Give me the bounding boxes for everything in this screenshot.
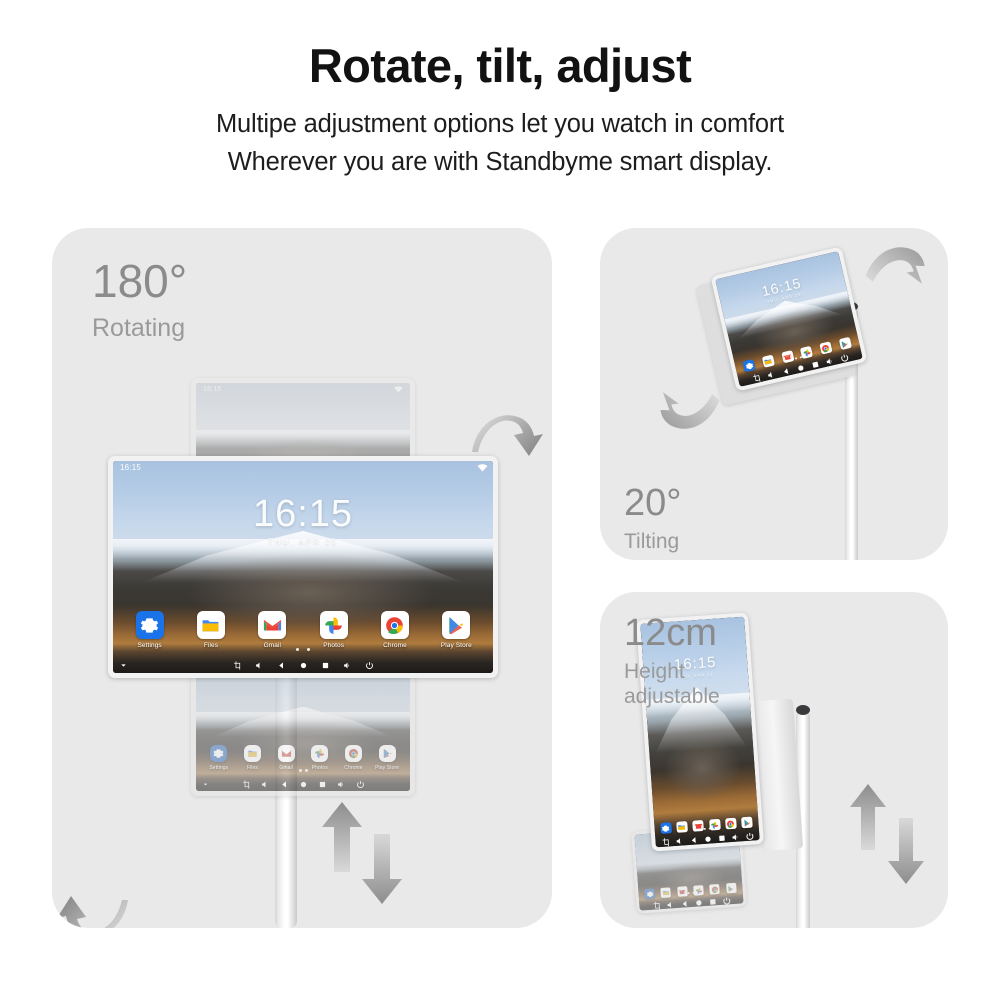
metric-rotating-value: 180° xyxy=(92,258,187,304)
metric-height-caption: Height adjustable xyxy=(624,660,720,710)
recents-icon xyxy=(318,780,327,789)
volume-up-icon[interactable] xyxy=(343,661,352,670)
home-icon[interactable] xyxy=(795,363,806,374)
tilt-down-arrow xyxy=(658,380,720,436)
back-icon xyxy=(280,780,289,789)
tablet-screen-tilted[interactable]: 16:15 THU, APR 25 xyxy=(715,251,863,387)
navigation-bar xyxy=(113,657,493,673)
product-feature-page: Rotate, tilt, adjust Multipe adjustment … xyxy=(0,0,1000,1000)
volume-down-icon xyxy=(261,780,270,789)
clock-date: THU, APR 25 xyxy=(113,537,493,546)
screenshot-crop-icon[interactable] xyxy=(751,373,762,384)
power-icon xyxy=(356,780,365,789)
page-dot xyxy=(307,648,310,651)
volume-up-icon[interactable] xyxy=(731,832,741,842)
files-folder-icon xyxy=(197,611,225,639)
power-icon[interactable] xyxy=(839,353,850,364)
height-updown-arrows xyxy=(848,782,928,886)
chevron-down-icon[interactable] xyxy=(119,661,128,670)
tablet-ghost-lower: Settings Files Gmail xyxy=(191,660,415,796)
recents-icon xyxy=(708,897,718,907)
panel-tilting: 20° Tilting 16:15 THU, APR 25 xyxy=(600,228,948,560)
recents-icon[interactable] xyxy=(810,359,821,370)
home-icon xyxy=(299,780,308,789)
status-bar-time: 16:15 xyxy=(120,463,141,472)
screenshot-crop-icon[interactable] xyxy=(233,661,242,670)
chrome-icon xyxy=(381,611,409,639)
chevron-down-icon[interactable] xyxy=(202,781,209,788)
metric-tilting-caption: Tilting xyxy=(624,530,681,555)
power-icon[interactable] xyxy=(745,832,755,842)
lockscreen-clock: 16:15 THU, APR 25 xyxy=(113,495,493,546)
play-store-icon xyxy=(442,611,470,639)
metric-height: 12cm Height adjustable xyxy=(624,614,720,710)
home-icon xyxy=(694,898,704,908)
header: Rotate, tilt, adjust Multipe adjustment … xyxy=(0,0,1000,181)
panel-rotating: 180° Rotating 16:15 xyxy=(52,228,552,928)
recents-icon[interactable] xyxy=(717,833,727,843)
ghost-status-time: 16:15 xyxy=(203,386,222,393)
metric-tilting: 20° Tilting xyxy=(624,484,681,555)
back-icon[interactable] xyxy=(277,661,286,670)
height-updown-arrows-rotating xyxy=(320,800,406,906)
wifi-icon xyxy=(394,386,403,393)
metric-tilting-value: 20° xyxy=(624,484,681,522)
tablet-main: 16:15 16:15 THU, APR 25 Settings xyxy=(108,456,498,678)
volume-down-icon[interactable] xyxy=(675,836,685,846)
photos-pinwheel-icon xyxy=(320,611,348,639)
screenshot-crop-icon[interactable] xyxy=(661,837,671,847)
gmail-envelope-icon xyxy=(258,611,286,639)
power-icon xyxy=(721,896,731,906)
tilt-up-arrow xyxy=(865,240,927,296)
metric-rotating: 180° Rotating xyxy=(92,258,187,344)
page-title: Rotate, tilt, adjust xyxy=(0,40,1000,93)
home-icon[interactable] xyxy=(703,834,713,844)
recents-icon[interactable] xyxy=(321,661,330,670)
volume-down-icon[interactable] xyxy=(255,661,264,670)
page-indicator xyxy=(113,638,493,656)
metric-height-value: 12cm xyxy=(624,614,720,652)
screenshot-crop-icon xyxy=(652,901,662,911)
pole-cap xyxy=(796,705,810,715)
rotate-clockwise-arrow xyxy=(470,408,544,476)
subtitle-line-1: Multipe adjustment options let you watch… xyxy=(0,105,1000,143)
clock-time: 16:15 xyxy=(113,495,493,533)
volume-up-icon[interactable] xyxy=(824,356,835,367)
volume-down-icon xyxy=(666,900,676,910)
metric-rotating-caption: Rotating xyxy=(92,314,187,344)
subtitle-line-2: Wherever you are with Standbyme smart di… xyxy=(0,143,1000,181)
home-icon[interactable] xyxy=(299,661,308,670)
back-icon[interactable] xyxy=(780,366,791,377)
back-icon[interactable] xyxy=(689,835,699,845)
page-dot xyxy=(296,648,299,651)
tablet-screen[interactable]: 16:15 16:15 THU, APR 25 Settings xyxy=(113,461,493,673)
rotate-counterclockwise-arrow xyxy=(56,876,130,928)
volume-down-icon[interactable] xyxy=(766,370,777,381)
volume-up-icon xyxy=(337,780,346,789)
screenshot-crop-icon xyxy=(242,780,251,789)
panel-height-adjustable: 12cm Height adjustable xyxy=(600,592,948,928)
status-bar: 16:15 xyxy=(113,461,493,474)
back-icon xyxy=(680,899,690,909)
power-icon[interactable] xyxy=(365,661,374,670)
settings-gear-icon xyxy=(136,611,164,639)
